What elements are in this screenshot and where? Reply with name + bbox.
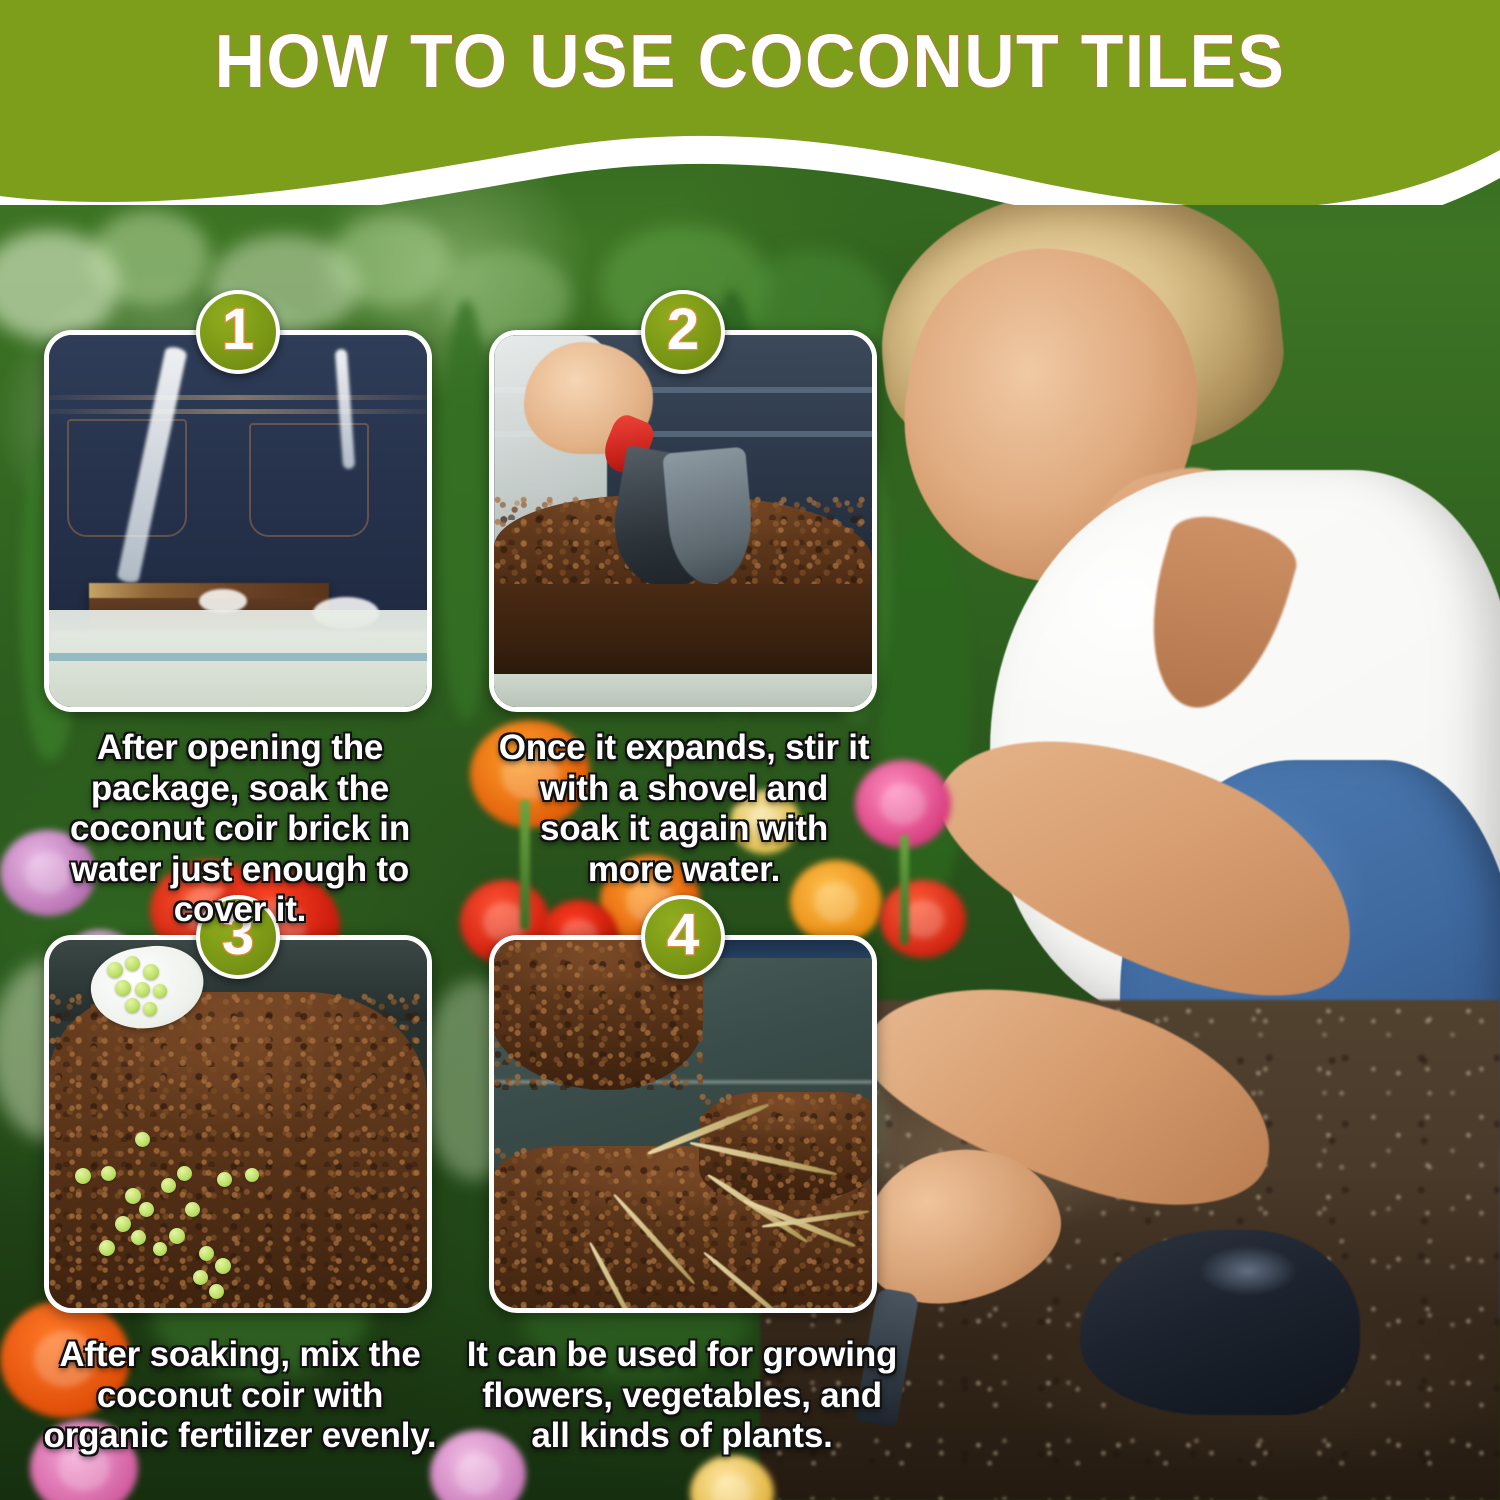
fertilizer-pellet (135, 1132, 150, 1147)
coir-texture (49, 992, 427, 1313)
fertilizer-pellet (185, 1202, 200, 1217)
fertilizer-pellet (131, 1230, 146, 1245)
step-badge-1: 1 (196, 290, 280, 374)
fertilizer-pellet (153, 984, 167, 998)
fertilizer-pellet (125, 956, 140, 971)
tray-base (494, 674, 872, 707)
fertilizer-pellet (125, 998, 140, 1013)
step-4-photo (489, 935, 877, 1313)
fertilizer-pellet (75, 1168, 91, 1184)
step-number-4: 4 (667, 906, 699, 964)
fertilizer-pellet (99, 1240, 115, 1256)
step-badge-2: 2 (641, 290, 725, 374)
step-number-1: 1 (222, 301, 254, 359)
fertilizer-pellet (135, 982, 150, 997)
fertilizer-pellet (125, 1188, 141, 1204)
flower-stem (900, 835, 909, 945)
step-caption-1: After opening the package, soak the coco… (30, 728, 450, 931)
grass-blade (440, 300, 492, 720)
denim-seam (49, 409, 427, 414)
step-number-2: 2 (667, 301, 699, 359)
fertilizer-pellet (215, 1258, 231, 1274)
step-caption-3: After soaking, mix the coconut coir with… (34, 1335, 446, 1457)
fertilizer-pellet (107, 962, 123, 978)
fertilizer-pellet (101, 1166, 116, 1181)
fertilizer-pellet (199, 1246, 214, 1261)
flower-bokeh (880, 880, 966, 958)
denim-seam (49, 395, 427, 400)
step-caption-4: It can be used for growing flowers, vege… (466, 1335, 898, 1457)
fertilizer-pellet (193, 1270, 208, 1285)
step-badge-4: 4 (641, 895, 725, 979)
fertilizer-pellet (217, 1172, 232, 1187)
fertilizer-pellet (143, 964, 159, 980)
fertilizer-pellet (209, 1284, 224, 1299)
step-2-image (494, 335, 872, 707)
step-1-photo (44, 330, 432, 712)
fertilizer-pellet (177, 1166, 192, 1181)
fertilizer-pellet (161, 1178, 176, 1193)
leaf-bokeh (90, 210, 210, 306)
step-4-image (494, 940, 872, 1308)
header-band: HOW TO USE COCONUT TILES (0, 0, 1500, 205)
fertilizer-pellet (115, 980, 131, 996)
step-2-photo (489, 330, 877, 712)
fertilizer-pellet (169, 1228, 185, 1244)
page-title: HOW TO USE COCONUT TILES (53, 18, 1448, 104)
leaf-bokeh (330, 215, 450, 307)
coir-lower-band (494, 584, 872, 673)
fertilizer-pellet (143, 1002, 157, 1016)
step-caption-2: Once it expands, stir it with a shovel a… (498, 728, 870, 890)
fertilizer-pellet (153, 1242, 167, 1256)
fertilizer-pellet (245, 1168, 259, 1182)
step-3-image (49, 940, 427, 1308)
step-3-photo (44, 935, 432, 1313)
tray-edge-line (49, 653, 427, 661)
soaked-coir-bed (49, 992, 427, 1313)
fertilizer-pellet (115, 1216, 131, 1232)
fertilizer-pellet (139, 1202, 154, 1217)
step-1-image (49, 335, 427, 707)
